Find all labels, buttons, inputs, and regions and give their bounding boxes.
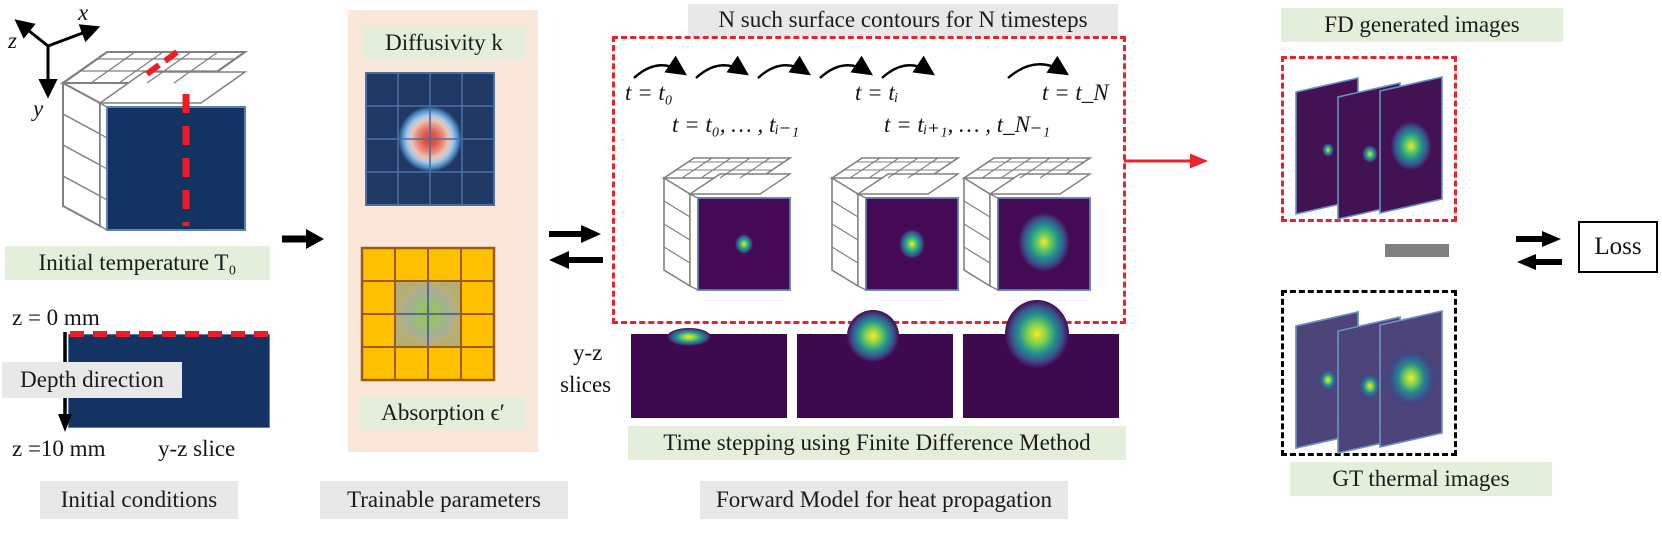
- axis-label-z: z: [8, 28, 17, 54]
- absorption-grid: [362, 248, 494, 380]
- bidirectional-arrow-icon: [547, 222, 605, 274]
- initial-temperature-label: Initial temperature T₀: [5, 246, 270, 280]
- gt-thermal-label: GT thermal images: [1290, 462, 1552, 496]
- depth-bottom-label: z =10 mm: [12, 436, 105, 462]
- comparison-bar: [1385, 244, 1449, 257]
- fd-image-panels: [1288, 60, 1468, 220]
- gt-image-panels: [1288, 294, 1468, 454]
- surface-contours-label: N such surface contours for N timesteps: [688, 4, 1118, 36]
- diffusivity-label: Diffusivity k: [362, 26, 526, 60]
- diffusivity-label-text: Diffusivity k: [385, 30, 503, 56]
- loss-box: Loss: [1578, 221, 1658, 273]
- fd-generated-label: FD generated images: [1281, 8, 1563, 42]
- forward-cube-1: [660, 148, 820, 308]
- absorption-label-text: Absorption ϵ′: [381, 400, 505, 426]
- time-label-ti: t = tᵢ: [855, 80, 898, 106]
- absorption-label: Absorption ϵ′: [360, 396, 526, 430]
- diffusivity-grid: [366, 73, 494, 205]
- red-arrow-icon: [1124, 150, 1214, 172]
- trainable-parameters-caption: Trainable parameters: [320, 481, 568, 519]
- yz-slice-label: y-z slice: [158, 436, 235, 462]
- time-label-tN: t = t_N: [1042, 80, 1109, 106]
- time-label-t0: t = t₀: [625, 80, 673, 106]
- yz-slice-image-3: [963, 334, 1119, 418]
- yz-slice-image-1: [631, 334, 787, 418]
- axis-label-x: x: [78, 0, 88, 26]
- yz-slice-image-2: [797, 334, 953, 418]
- yz-slice-red-dashes: [68, 328, 270, 340]
- initial-conditions-caption: Initial conditions: [40, 481, 238, 519]
- initial-temperature-cube: [55, 28, 300, 228]
- time-range-first: t = t₀, … , tᵢ₋₁: [672, 112, 799, 138]
- arrow-right-icon: [280, 225, 328, 253]
- yz-slices-label-line2: slices: [560, 372, 611, 398]
- time-stepping-label: Time stepping using Finite Difference Me…: [628, 426, 1126, 460]
- axis-label-y: y: [33, 96, 43, 122]
- time-range-second: t = tᵢ₊₁, … , t_N₋₁: [884, 112, 1050, 138]
- forward-cube-3: [960, 148, 1120, 308]
- depth-direction-label: Depth direction: [2, 362, 182, 398]
- forward-model-caption: Forward Model for heat propagation: [700, 481, 1068, 519]
- yz-slices-label-line1: y-z: [573, 340, 602, 366]
- loss-bidirectional-arrow-icon: [1516, 228, 1564, 274]
